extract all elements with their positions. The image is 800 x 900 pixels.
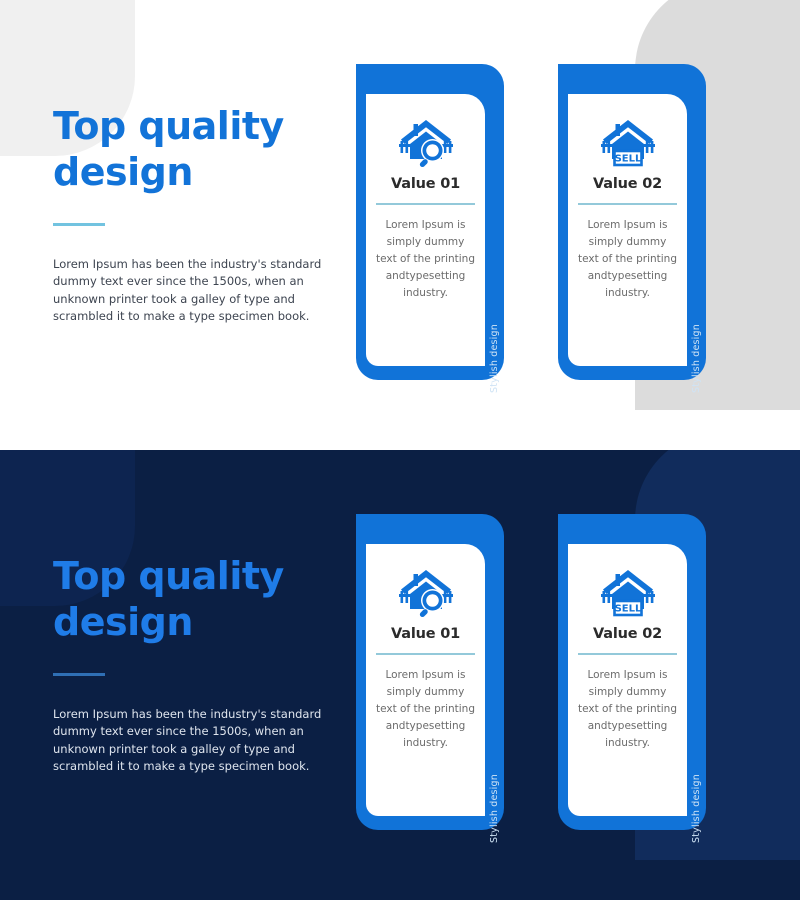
lead-paragraph-dark: Lorem Ipsum has been the industry's stan… [53, 706, 323, 776]
card-vertical-label-text: Stylish design [691, 774, 702, 843]
value-card-02-light[interactable]: Stylish design SELL [558, 64, 706, 380]
infographic-page: Top qualitydesign Lorem Ipsum has been t… [0, 0, 800, 900]
page-title-light: Top qualitydesign [53, 103, 323, 195]
page-title-dark: Top qualitydesign [53, 553, 323, 645]
page-title-line2: design [53, 600, 193, 644]
value-card-02-dark[interactable]: Stylish design SELL [558, 514, 706, 830]
lead-block-dark: Top qualitydesign Lorem Ipsum has been t… [53, 553, 323, 787]
card-divider [578, 203, 677, 205]
house-sell-sign-icon: SELL [578, 562, 677, 624]
card-inner-panel: SELL Value 02 Lorem Ipsum is simply dumm… [568, 544, 687, 816]
house-search-icon [376, 112, 475, 174]
svg-text:SELL: SELL [614, 603, 641, 614]
card-vertical-label: Stylish design [484, 214, 504, 364]
card-vertical-label: Stylish design [484, 664, 504, 814]
card-body-text: Lorem Ipsum is simply dummy text of the … [578, 217, 677, 302]
card-inner-panel: Value 01 Lorem Ipsum is simply dummy tex… [366, 544, 485, 816]
card-vertical-label-text: Stylish design [489, 774, 500, 843]
card-body-text: Lorem Ipsum is simply dummy text of the … [376, 667, 475, 752]
value-card-01-dark[interactable]: Stylish design [356, 514, 504, 830]
svg-text:SELL: SELL [614, 153, 641, 164]
lead-block-light: Top qualitydesign Lorem Ipsum has been t… [53, 103, 323, 337]
card-title: Value 01 [376, 176, 475, 192]
card-title: Value 02 [578, 626, 677, 642]
house-search-icon [376, 562, 475, 624]
card-vertical-label-text: Stylish design [691, 324, 702, 393]
card-title: Value 02 [578, 176, 677, 192]
section-light: Top qualitydesign Lorem Ipsum has been t… [0, 0, 800, 450]
page-title-line2: design [53, 150, 193, 194]
card-body-text: Lorem Ipsum is simply dummy text of the … [578, 667, 677, 752]
card-divider [376, 203, 475, 205]
card-divider [376, 653, 475, 655]
card-vertical-label: Stylish design [686, 664, 706, 814]
card-inner-panel: Value 01 Lorem Ipsum is simply dummy tex… [366, 94, 485, 366]
title-divider-dark [53, 673, 105, 676]
page-title-line1: Top quality [53, 104, 284, 148]
value-card-01-light[interactable]: Stylish design [356, 64, 504, 380]
card-title: Value 01 [376, 626, 475, 642]
house-sell-sign-icon: SELL [578, 112, 677, 174]
lead-paragraph-light: Lorem Ipsum has been the industry's stan… [53, 256, 323, 326]
card-divider [578, 653, 677, 655]
card-vertical-label-text: Stylish design [489, 324, 500, 393]
card-vertical-label: Stylish design [686, 214, 706, 364]
page-title-line1: Top quality [53, 554, 284, 598]
section-dark: Top qualitydesign Lorem Ipsum has been t… [0, 450, 800, 900]
title-divider-light [53, 223, 105, 226]
card-inner-panel: SELL Value 02 Lorem Ipsum is simply dumm… [568, 94, 687, 366]
card-body-text: Lorem Ipsum is simply dummy text of the … [376, 217, 475, 302]
